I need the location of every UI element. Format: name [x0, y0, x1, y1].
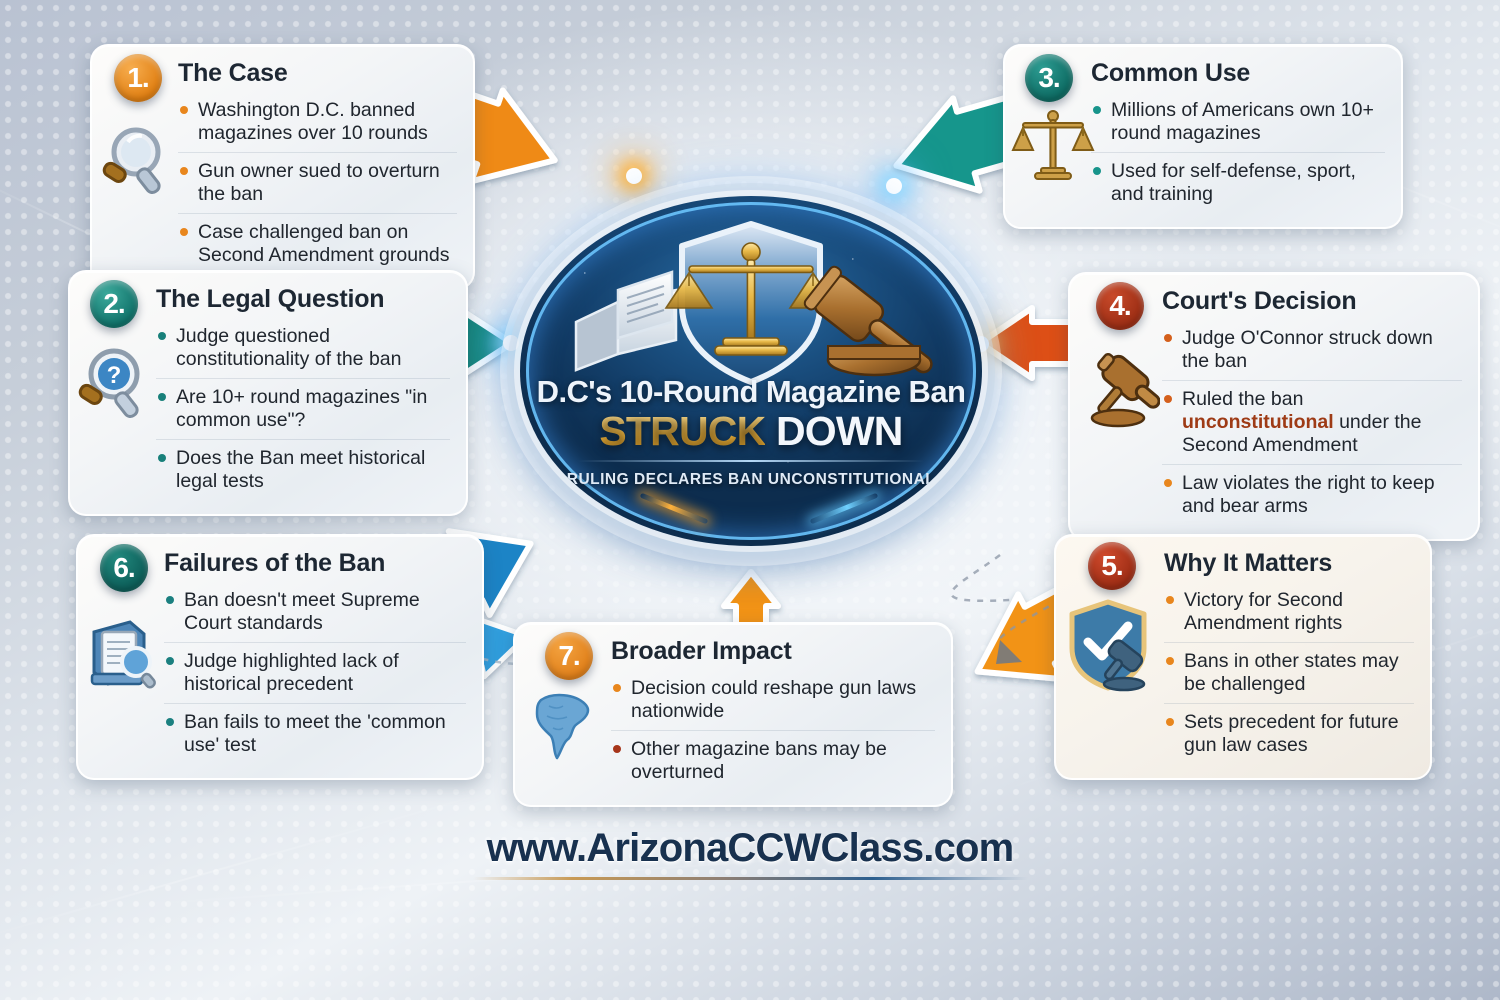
bullet-text: Does the Ban meet historical legal tests [176, 447, 425, 492]
infographic-canvas: D.C's 10-Round Magazine Ban STRUCK DOWN … [0, 0, 1500, 1000]
hub-tagline: RULING DECLARES BAN UNCONSTITUTIONAL [520, 471, 982, 489]
bullet-dot [1164, 334, 1172, 342]
bullet-text: Judge highlighted lack of historical pre… [184, 650, 399, 695]
list-item: Law violates the right to keep and bear … [1162, 464, 1462, 525]
card-number: 6. [113, 552, 134, 584]
list-item: Ban doesn't meet Supreme Court standards [164, 582, 466, 642]
book-magnifier-icon [78, 612, 162, 696]
footer: www.ArizonaCCWClass.com [0, 826, 1500, 880]
hub-headline-struck: STRUCK [599, 408, 765, 454]
card-failures-of-the-ban[interactable]: 6. Failures of the Ban Ban doesn't meet … [76, 534, 484, 780]
card-number-badge: 4. [1096, 282, 1144, 330]
bullet-text: Washington D.C. banned magazines over 10… [198, 99, 428, 144]
card-number-badge: 2. [90, 280, 138, 328]
list-item: Ruled the ban unconstitutional under the… [1162, 380, 1462, 464]
bullet-dot [166, 718, 174, 726]
card-title: Failures of the Ban [164, 550, 466, 576]
card-title: Why It Matters [1164, 550, 1414, 576]
bullet-dot [1093, 106, 1101, 114]
bullet-dot [180, 167, 188, 175]
bullet-text-decision-highlight: Ruled the ban unconstitutional under the… [1182, 388, 1421, 456]
list-item: Sets precedent for future gun law cases [1164, 703, 1414, 764]
card-broader-impact[interactable]: 7. Broader Impact Decision could reshape… [513, 622, 953, 807]
list-item: Other magazine bans may be overturned [611, 730, 935, 791]
bullet-dot [1166, 596, 1174, 604]
card-number-badge: 1. [114, 54, 162, 102]
connector-node [626, 168, 642, 184]
card-number: 5. [1101, 550, 1122, 582]
card-title: Broader Impact [611, 638, 935, 664]
magnifying-glass-question-icon: ? [72, 344, 156, 428]
card-bullets: Victory for Second Amendment rights Bans… [1164, 582, 1414, 764]
list-item: Gun owner sued to overturn the ban [178, 152, 457, 213]
bullet-dot [166, 596, 174, 604]
footer-divider [473, 877, 1028, 880]
connector-node [503, 335, 519, 351]
bullet-text: Law violates the right to keep and bear … [1182, 472, 1435, 517]
bullet-dot [613, 684, 621, 692]
website-url[interactable]: www.ArizonaCCWClass.com [0, 826, 1500, 871]
list-item: Millions of Americans own 10+ round maga… [1091, 92, 1385, 152]
bullet-text: Other magazine bans may be overturned [631, 738, 887, 783]
hub-title: D.C's 10-Round Magazine Ban [520, 374, 982, 410]
bullet-text: Bans in other states may be challenged [1184, 650, 1399, 695]
list-item: Decision could reshape gun laws nationwi… [611, 670, 935, 730]
bullet-text: Gun owner sued to overturn the ban [198, 160, 440, 205]
list-item: Washington D.C. banned magazines over 10… [178, 92, 457, 152]
card-title: The Case [178, 60, 457, 86]
card-bullets: Washington D.C. banned magazines over 10… [178, 92, 457, 274]
bullet-dot [1093, 167, 1101, 175]
bullet-dot [1164, 479, 1172, 487]
connector-node [886, 178, 902, 194]
bullet-dot [158, 332, 166, 340]
svg-text:?: ? [107, 362, 122, 389]
card-bullets: Decision could reshape gun laws nationwi… [611, 670, 935, 791]
bullet-text: Are 10+ round magazines "in common use"? [176, 386, 427, 431]
bullet-text: Sets precedent for future gun law cases [1184, 711, 1399, 756]
card-bullets: Ban doesn't meet Supreme Court standards… [164, 582, 466, 764]
bullet-text: Millions of Americans own 10+ round maga… [1111, 99, 1374, 144]
card-the-legal-question[interactable]: 2. ? The Legal Question Judge questioned… [68, 270, 468, 516]
hub-headline-down: DOWN [765, 408, 902, 454]
card-number: 1. [127, 62, 148, 94]
bullet-dot [1164, 395, 1172, 403]
bullet-text: Judge questioned constitutionality of th… [176, 325, 401, 370]
highlight-unconstitutional: unconstitutional [1182, 411, 1334, 433]
card-common-use[interactable]: 3. Common Use Millions of Americans own … [1003, 44, 1403, 229]
bullet-dot [180, 228, 188, 236]
magnifying-glass-icon [94, 122, 178, 206]
bullet-dot [613, 745, 621, 753]
list-item: Are 10+ round magazines "in common use"? [156, 378, 450, 439]
card-title: The Legal Question [156, 286, 450, 312]
card-courts-decision[interactable]: 4. Court's Decision Judge O'Connor struc… [1068, 272, 1480, 541]
list-item: Case challenged ban on Second Amendment … [178, 213, 457, 274]
list-item: Judge O'Connor struck down the ban [1162, 320, 1462, 380]
map-americas-icon [523, 684, 607, 768]
bullet-dot [180, 106, 188, 114]
bullet-text: Decision could reshape gun laws nationwi… [631, 677, 916, 722]
central-hub: D.C's 10-Round Magazine Ban STRUCK DOWN … [520, 196, 982, 546]
bullet-text: Case challenged ban on Second Amendment … [198, 221, 450, 266]
hub-divider [578, 460, 924, 462]
card-number-badge: 6. [100, 544, 148, 592]
card-title: Court's Decision [1162, 288, 1462, 314]
shield-check-gavel-icon [1058, 594, 1158, 694]
bullet-dot [158, 393, 166, 401]
card-number-badge: 5. [1088, 542, 1136, 590]
bullet-dot [1166, 718, 1174, 726]
hub-emblem [520, 202, 982, 402]
card-number: 7. [558, 640, 579, 672]
list-item: Bans in other states may be challenged [1164, 642, 1414, 703]
card-number-badge: 3. [1025, 54, 1073, 102]
bullet-text: Ban fails to meet the 'common use' test [184, 711, 446, 756]
card-why-it-matters[interactable]: 5. Why It Matters Victory for Second Ame… [1054, 534, 1432, 780]
list-item: Does the Ban meet historical legal tests [156, 439, 450, 500]
bullet-text: Victory for Second Amendment rights [1184, 589, 1343, 634]
card-number: 4. [1109, 290, 1130, 322]
bullet-text: Ban doesn't meet Supreme Court standards [184, 589, 420, 634]
bullet-dot [158, 454, 166, 462]
card-bullets: Millions of Americans own 10+ round maga… [1091, 92, 1385, 213]
hub-headline: STRUCK DOWN [520, 408, 982, 455]
list-item: Judge highlighted lack of historical pre… [164, 642, 466, 703]
card-the-case[interactable]: 1. The Case Washington D.C. banned magaz… [90, 44, 475, 290]
list-item: Victory for Second Amendment rights [1164, 582, 1414, 642]
bullet-text: Judge O'Connor struck down the ban [1182, 327, 1433, 372]
gavel-icon [1076, 348, 1160, 432]
list-item: Judge questioned constitutionality of th… [156, 318, 450, 378]
list-item: Used for self-defense, sport, and traini… [1091, 152, 1385, 213]
card-bullets: Judge O'Connor struck down the ban Ruled… [1162, 320, 1462, 525]
bullet-dot [1166, 657, 1174, 665]
card-number-badge: 7. [545, 632, 593, 680]
bullet-text: Used for self-defense, sport, and traini… [1111, 160, 1356, 205]
card-number: 3. [1038, 62, 1059, 94]
list-item: Ban fails to meet the 'common use' test [164, 703, 466, 764]
card-number: 2. [103, 288, 124, 320]
card-title: Common Use [1091, 60, 1385, 86]
card-bullets: Judge questioned constitutionality of th… [156, 318, 450, 500]
bullet-dot [166, 657, 174, 665]
scales-of-justice-icon [1011, 104, 1095, 188]
